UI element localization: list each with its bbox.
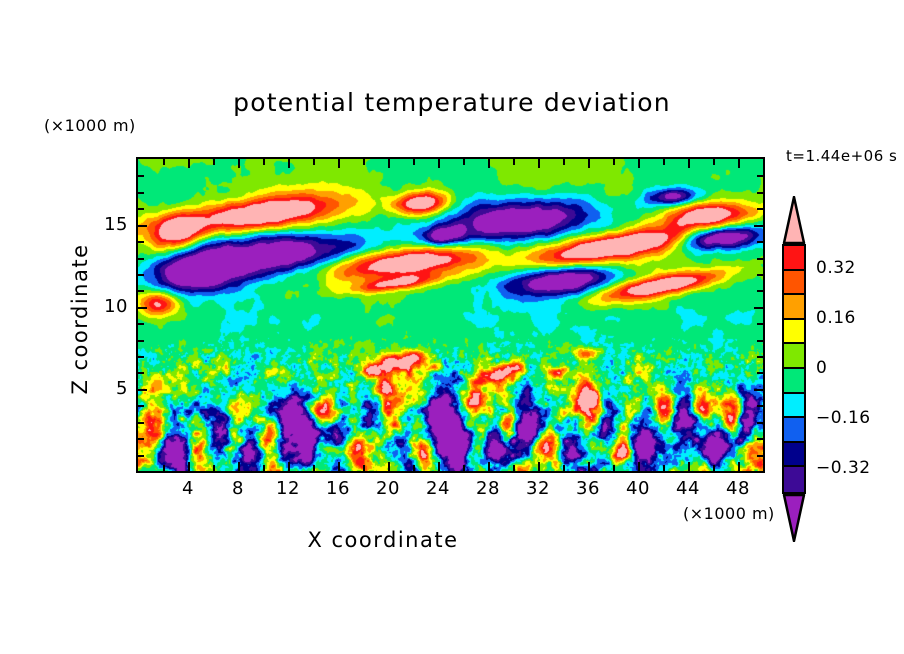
x-axis-title: X coordinate [0, 528, 766, 552]
x-tick-bottom-18 [363, 465, 365, 471]
colorbar-band-0 [784, 246, 804, 271]
x-axis-units-label: (×1000 m) [683, 504, 775, 523]
y-tick-left-8 [138, 340, 144, 342]
y-tick-left-5 [138, 389, 147, 391]
x-tick-label-32: 32 [518, 478, 558, 499]
y-tick-right-3 [757, 422, 763, 424]
colorbar-band-2 [784, 295, 804, 320]
x-tick-bottom-16 [338, 462, 340, 471]
x-tick-top-38 [613, 159, 615, 165]
x-tick-bottom-2 [163, 465, 165, 471]
x-tick-label-20: 20 [368, 478, 408, 499]
x-tick-top-40 [638, 159, 640, 168]
y-tick-left-13 [138, 258, 144, 260]
x-tick-top-32 [538, 159, 540, 168]
y-tick-right-2 [757, 438, 763, 440]
x-tick-top-12 [288, 159, 290, 168]
y-tick-right-5 [754, 389, 763, 391]
y-axis-units-label: (×1000 m) [44, 116, 136, 135]
y-tick-right-11 [757, 290, 763, 292]
y-tick-right-7 [757, 356, 763, 358]
x-tick-top-30 [513, 159, 515, 165]
x-tick-top-14 [313, 159, 315, 165]
x-tick-label-8: 8 [218, 478, 258, 499]
y-tick-left-4 [138, 405, 144, 407]
x-tick-top-44 [688, 159, 690, 168]
y-tick-right-17 [757, 192, 763, 194]
y-tick-right-15 [754, 225, 763, 227]
y-tick-left-17 [138, 192, 144, 194]
y-tick-left-2 [138, 438, 144, 440]
x-tick-top-8 [238, 159, 240, 168]
colorbar-cap-top-icon [782, 196, 806, 244]
x-tick-bottom-12 [288, 462, 290, 471]
x-tick-bottom-36 [588, 462, 590, 471]
x-tick-top-36 [588, 159, 590, 168]
y-tick-left-7 [138, 356, 144, 358]
x-tick-bottom-8 [238, 462, 240, 471]
x-tick-label-44: 44 [668, 478, 708, 499]
x-tick-label-12: 12 [268, 478, 308, 499]
y-tick-right-4 [757, 405, 763, 407]
time-annotation: t=1.44e+06 s [786, 147, 897, 165]
y-tick-right-6 [757, 372, 763, 374]
colorbar-label-1: 0.16 [816, 308, 856, 328]
x-tick-top-4 [188, 159, 190, 168]
x-tick-bottom-30 [513, 465, 515, 471]
x-tick-top-18 [363, 159, 365, 165]
colorbar-label-2: 0 [816, 358, 827, 378]
x-tick-bottom-48 [738, 462, 740, 471]
y-tick-left-1 [138, 455, 144, 457]
colorbar-label-0: 0.32 [816, 258, 856, 278]
colorbar-label-4: −0.32 [816, 458, 871, 478]
y-tick-right-1 [757, 455, 763, 457]
x-tick-top-28 [488, 159, 490, 168]
x-tick-top-24 [438, 159, 440, 168]
y-tick-right-14 [757, 241, 763, 243]
x-tick-top-48 [738, 159, 740, 168]
x-tick-top-2 [163, 159, 165, 165]
contour-plot-area [136, 157, 765, 473]
x-tick-bottom-22 [413, 465, 415, 471]
x-tick-bottom-20 [388, 462, 390, 471]
x-tick-bottom-10 [263, 465, 265, 471]
y-tick-label-15: 15 [86, 214, 128, 235]
x-tick-top-20 [388, 159, 390, 168]
colorbar-bands [782, 244, 806, 494]
y-tick-left-3 [138, 422, 144, 424]
x-tick-top-16 [338, 159, 340, 168]
x-tick-bottom-24 [438, 462, 440, 471]
x-tick-bottom-14 [313, 465, 315, 471]
y-tick-right-16 [757, 208, 763, 210]
colorbar-cap-bottom-icon [782, 494, 806, 542]
contour-field-canvas [138, 159, 763, 471]
x-tick-label-48: 48 [718, 478, 758, 499]
x-tick-bottom-26 [463, 465, 465, 471]
y-tick-left-12 [138, 274, 144, 276]
x-tick-top-26 [463, 159, 465, 165]
y-tick-right-12 [757, 274, 763, 276]
y-tick-right-8 [757, 340, 763, 342]
x-tick-bottom-42 [663, 465, 665, 471]
x-tick-label-28: 28 [468, 478, 508, 499]
x-tick-top-34 [563, 159, 565, 165]
colorbar-band-9 [784, 467, 804, 492]
x-tick-label-4: 4 [168, 478, 208, 499]
y-tick-right-13 [757, 258, 763, 260]
y-tick-left-10 [138, 307, 147, 309]
colorbar-band-5 [784, 369, 804, 394]
x-tick-top-10 [263, 159, 265, 165]
x-tick-label-16: 16 [318, 478, 358, 499]
x-tick-bottom-38 [613, 465, 615, 471]
y-tick-right-10 [754, 307, 763, 309]
colorbar-band-4 [784, 344, 804, 369]
x-tick-label-24: 24 [418, 478, 458, 499]
x-tick-bottom-6 [213, 465, 215, 471]
colorbar-band-1 [784, 271, 804, 296]
y-tick-left-18 [138, 175, 144, 177]
x-tick-bottom-28 [488, 462, 490, 471]
y-tick-left-14 [138, 241, 144, 243]
y-tick-label-10: 10 [86, 296, 128, 317]
x-tick-label-36: 36 [568, 478, 608, 499]
x-tick-top-6 [213, 159, 215, 165]
colorbar-label-3: −0.16 [816, 408, 871, 428]
y-tick-left-16 [138, 208, 144, 210]
x-tick-top-46 [713, 159, 715, 165]
y-tick-left-6 [138, 372, 144, 374]
x-tick-bottom-46 [713, 465, 715, 471]
page-title: potential temperature deviation [0, 88, 904, 117]
x-tick-bottom-32 [538, 462, 540, 471]
y-tick-right-18 [757, 175, 763, 177]
x-tick-label-40: 40 [618, 478, 658, 499]
y-tick-left-15 [138, 225, 147, 227]
x-tick-bottom-44 [688, 462, 690, 471]
colorbar-band-3 [784, 320, 804, 345]
x-tick-top-42 [663, 159, 665, 165]
x-tick-bottom-4 [188, 462, 190, 471]
y-tick-right-9 [757, 323, 763, 325]
colorbar-band-6 [784, 394, 804, 419]
y-tick-left-9 [138, 323, 144, 325]
y-tick-left-11 [138, 290, 144, 292]
colorbar-band-8 [784, 443, 804, 468]
x-tick-bottom-34 [563, 465, 565, 471]
colorbar-band-7 [784, 418, 804, 443]
y-tick-label-5: 5 [86, 378, 128, 399]
x-tick-top-22 [413, 159, 415, 165]
x-tick-bottom-40 [638, 462, 640, 471]
